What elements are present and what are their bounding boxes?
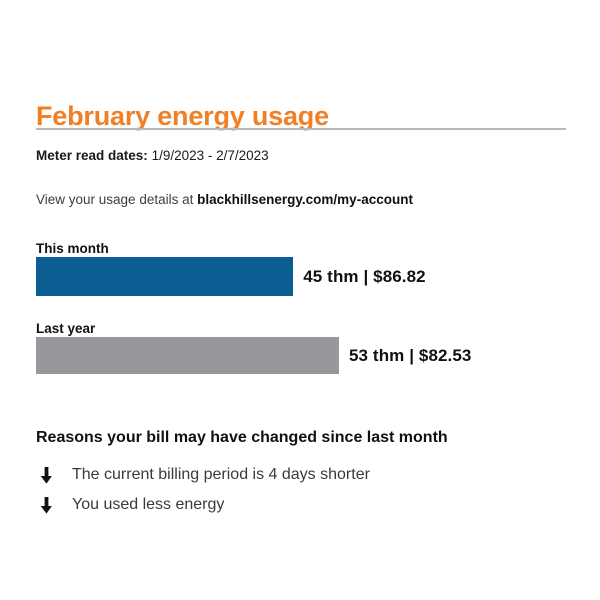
usage-bar-value-last-year: 53 thm | $82.53 [339, 346, 472, 366]
bar-fill-this-month [36, 257, 293, 296]
arrow-down-icon [36, 467, 64, 484]
usage-bar-label-this-month: This month [36, 240, 426, 257]
reasons-heading: Reasons your bill may have changed since… [36, 427, 448, 449]
reason-item: You used less energy [36, 490, 556, 520]
view-usage-details: View your usage details at blackhillsene… [36, 191, 413, 209]
energy-usage-card: February energy usage Meter read dates: … [0, 0, 600, 600]
view-usage-details-prefix: View your usage details at [36, 192, 193, 207]
reasons-list: The current billing period is 4 days sho… [36, 460, 556, 520]
usage-bar-last-year: Last year 53 thm | $82.53 [36, 320, 472, 374]
my-account-link[interactable]: blackhillsenergy.com/my-account [197, 192, 413, 207]
meter-read-dates: Meter read dates: 1/9/2023 - 2/7/2023 [36, 147, 269, 165]
title-divider [36, 128, 566, 130]
meter-read-dates-value: 1/9/2023 - 2/7/2023 [152, 148, 269, 163]
usage-bar-value-this-month: 45 thm | $86.82 [293, 267, 426, 287]
bar-fill-last-year [36, 337, 339, 374]
reason-text: You used less energy [64, 494, 224, 516]
meter-read-dates-label: Meter read dates: [36, 148, 148, 163]
usage-bar-row-last-year: 53 thm | $82.53 [36, 337, 472, 374]
arrow-down-icon [36, 497, 64, 514]
usage-bar-row-this-month: 45 thm | $86.82 [36, 257, 426, 296]
reason-item: The current billing period is 4 days sho… [36, 460, 556, 490]
usage-bar-this-month: This month 45 thm | $86.82 [36, 240, 426, 296]
reason-text: The current billing period is 4 days sho… [64, 464, 370, 486]
usage-bar-label-last-year: Last year [36, 320, 472, 337]
